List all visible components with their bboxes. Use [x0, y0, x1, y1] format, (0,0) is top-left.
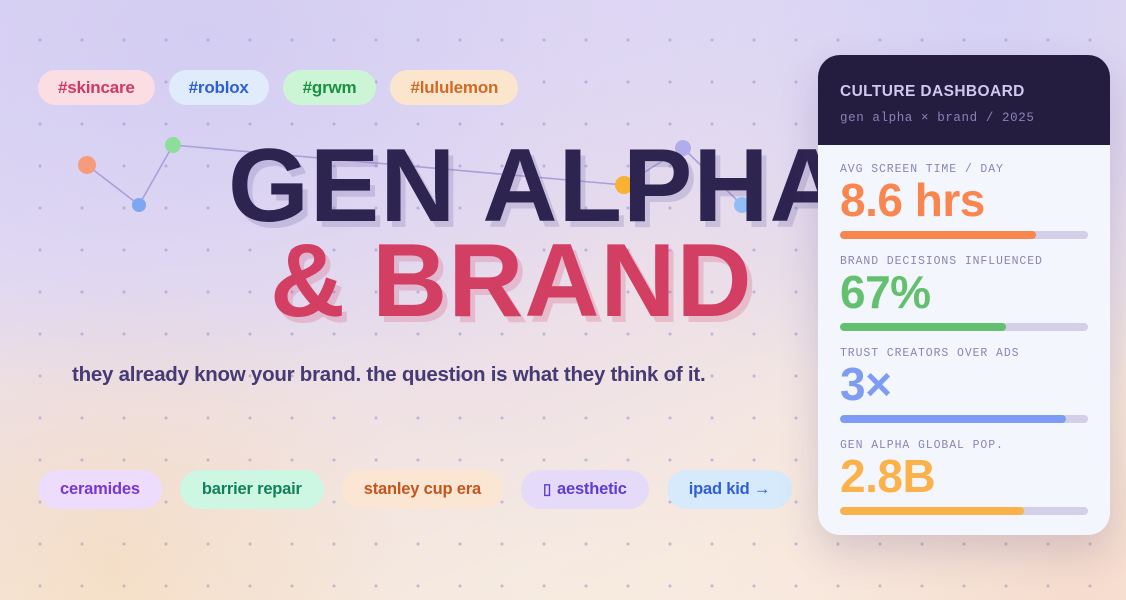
pill-grwm[interactable]: #grwm [283, 70, 377, 105]
pill-label: #roblox [189, 79, 249, 96]
dashboard-subtitle: gen alpha × brand / 2025 [840, 111, 1088, 125]
pill-ipad-kid[interactable]: ipad kid → [667, 470, 792, 509]
metric-value: 2.8B [840, 453, 1088, 500]
pill-label: ceramides [60, 481, 140, 498]
headline-brand-word: BRAND [372, 223, 753, 339]
pill-label: barrier repair [202, 481, 302, 498]
metric-progress-bar [840, 507, 1088, 515]
dashboard-header: CULTURE DASHBOARD gen alpha × brand / 20… [818, 55, 1110, 145]
pill-label: aesthetic [557, 481, 627, 498]
pill-aesthetic[interactable]: ▯aesthetic [521, 470, 649, 509]
metric-gen-alpha-global-pop: GEN ALPHA GLOBAL POP.2.8B [840, 439, 1088, 515]
pill-label: stanley cup era [364, 481, 481, 498]
trend-pill-row: ceramidesbarrier repairstanley cup era▯a… [38, 470, 792, 509]
pill-label: ipad kid → [689, 481, 770, 498]
page-title: GEN ALPHA &BRAND [228, 142, 828, 327]
pill-barrier-repair[interactable]: barrier repair [180, 470, 324, 509]
metric-progress-bar [840, 231, 1088, 239]
headline-line-2: &BRAND [270, 237, 828, 326]
metric-progress-bar [840, 323, 1088, 331]
headline-line-1: GEN ALPHA [228, 142, 828, 231]
culture-dashboard-card: CULTURE DASHBOARD gen alpha × brand / 20… [818, 55, 1110, 535]
dashboard-title: CULTURE DASHBOARD [840, 83, 1088, 101]
metric-progress-fill [840, 507, 1024, 515]
metric-trust-creators-over-ads: TRUST CREATORS OVER ADS3× [840, 347, 1088, 423]
pill-label: #skincare [58, 79, 135, 96]
pill-label: #lululemon [410, 79, 498, 96]
hero-subtitle: they already know your brand. the questi… [72, 363, 705, 387]
metric-brand-decisions-influenced: BRAND DECISIONS INFLUENCED67% [840, 255, 1088, 331]
dashboard-metric-list: AVG SCREEN TIME / DAY8.6 hrsBRAND DECISI… [818, 145, 1110, 515]
pill-skincare[interactable]: #skincare [38, 70, 155, 105]
hashtag-pill-row: #skincare#roblox#grwm#lululemon [38, 70, 518, 105]
poster-canvas: #skincare#roblox#grwm#lululemon GEN ALPH… [0, 0, 1126, 600]
metric-avg-screen-time-day: AVG SCREEN TIME / DAY8.6 hrs [840, 163, 1088, 239]
metric-value: 8.6 hrs [840, 177, 1088, 224]
metric-progress-fill [840, 231, 1036, 239]
metric-value: 3× [840, 361, 1088, 408]
pill-label: #grwm [303, 79, 357, 96]
hero-section: #skincare#roblox#grwm#lululemon GEN ALPH… [0, 0, 820, 600]
pill-glyph-icon: ▯ [543, 482, 551, 497]
metric-progress-fill [840, 323, 1006, 331]
ampersand: & [270, 223, 346, 339]
metric-progress-bar [840, 415, 1088, 423]
pill-roblox[interactable]: #roblox [169, 70, 269, 105]
metric-progress-fill [840, 415, 1066, 423]
pill-stanley-cup-era[interactable]: stanley cup era [342, 470, 503, 509]
pill-lululemon[interactable]: #lululemon [390, 70, 518, 105]
metric-value: 67% [840, 269, 1088, 316]
pill-ceramides[interactable]: ceramides [38, 470, 162, 509]
